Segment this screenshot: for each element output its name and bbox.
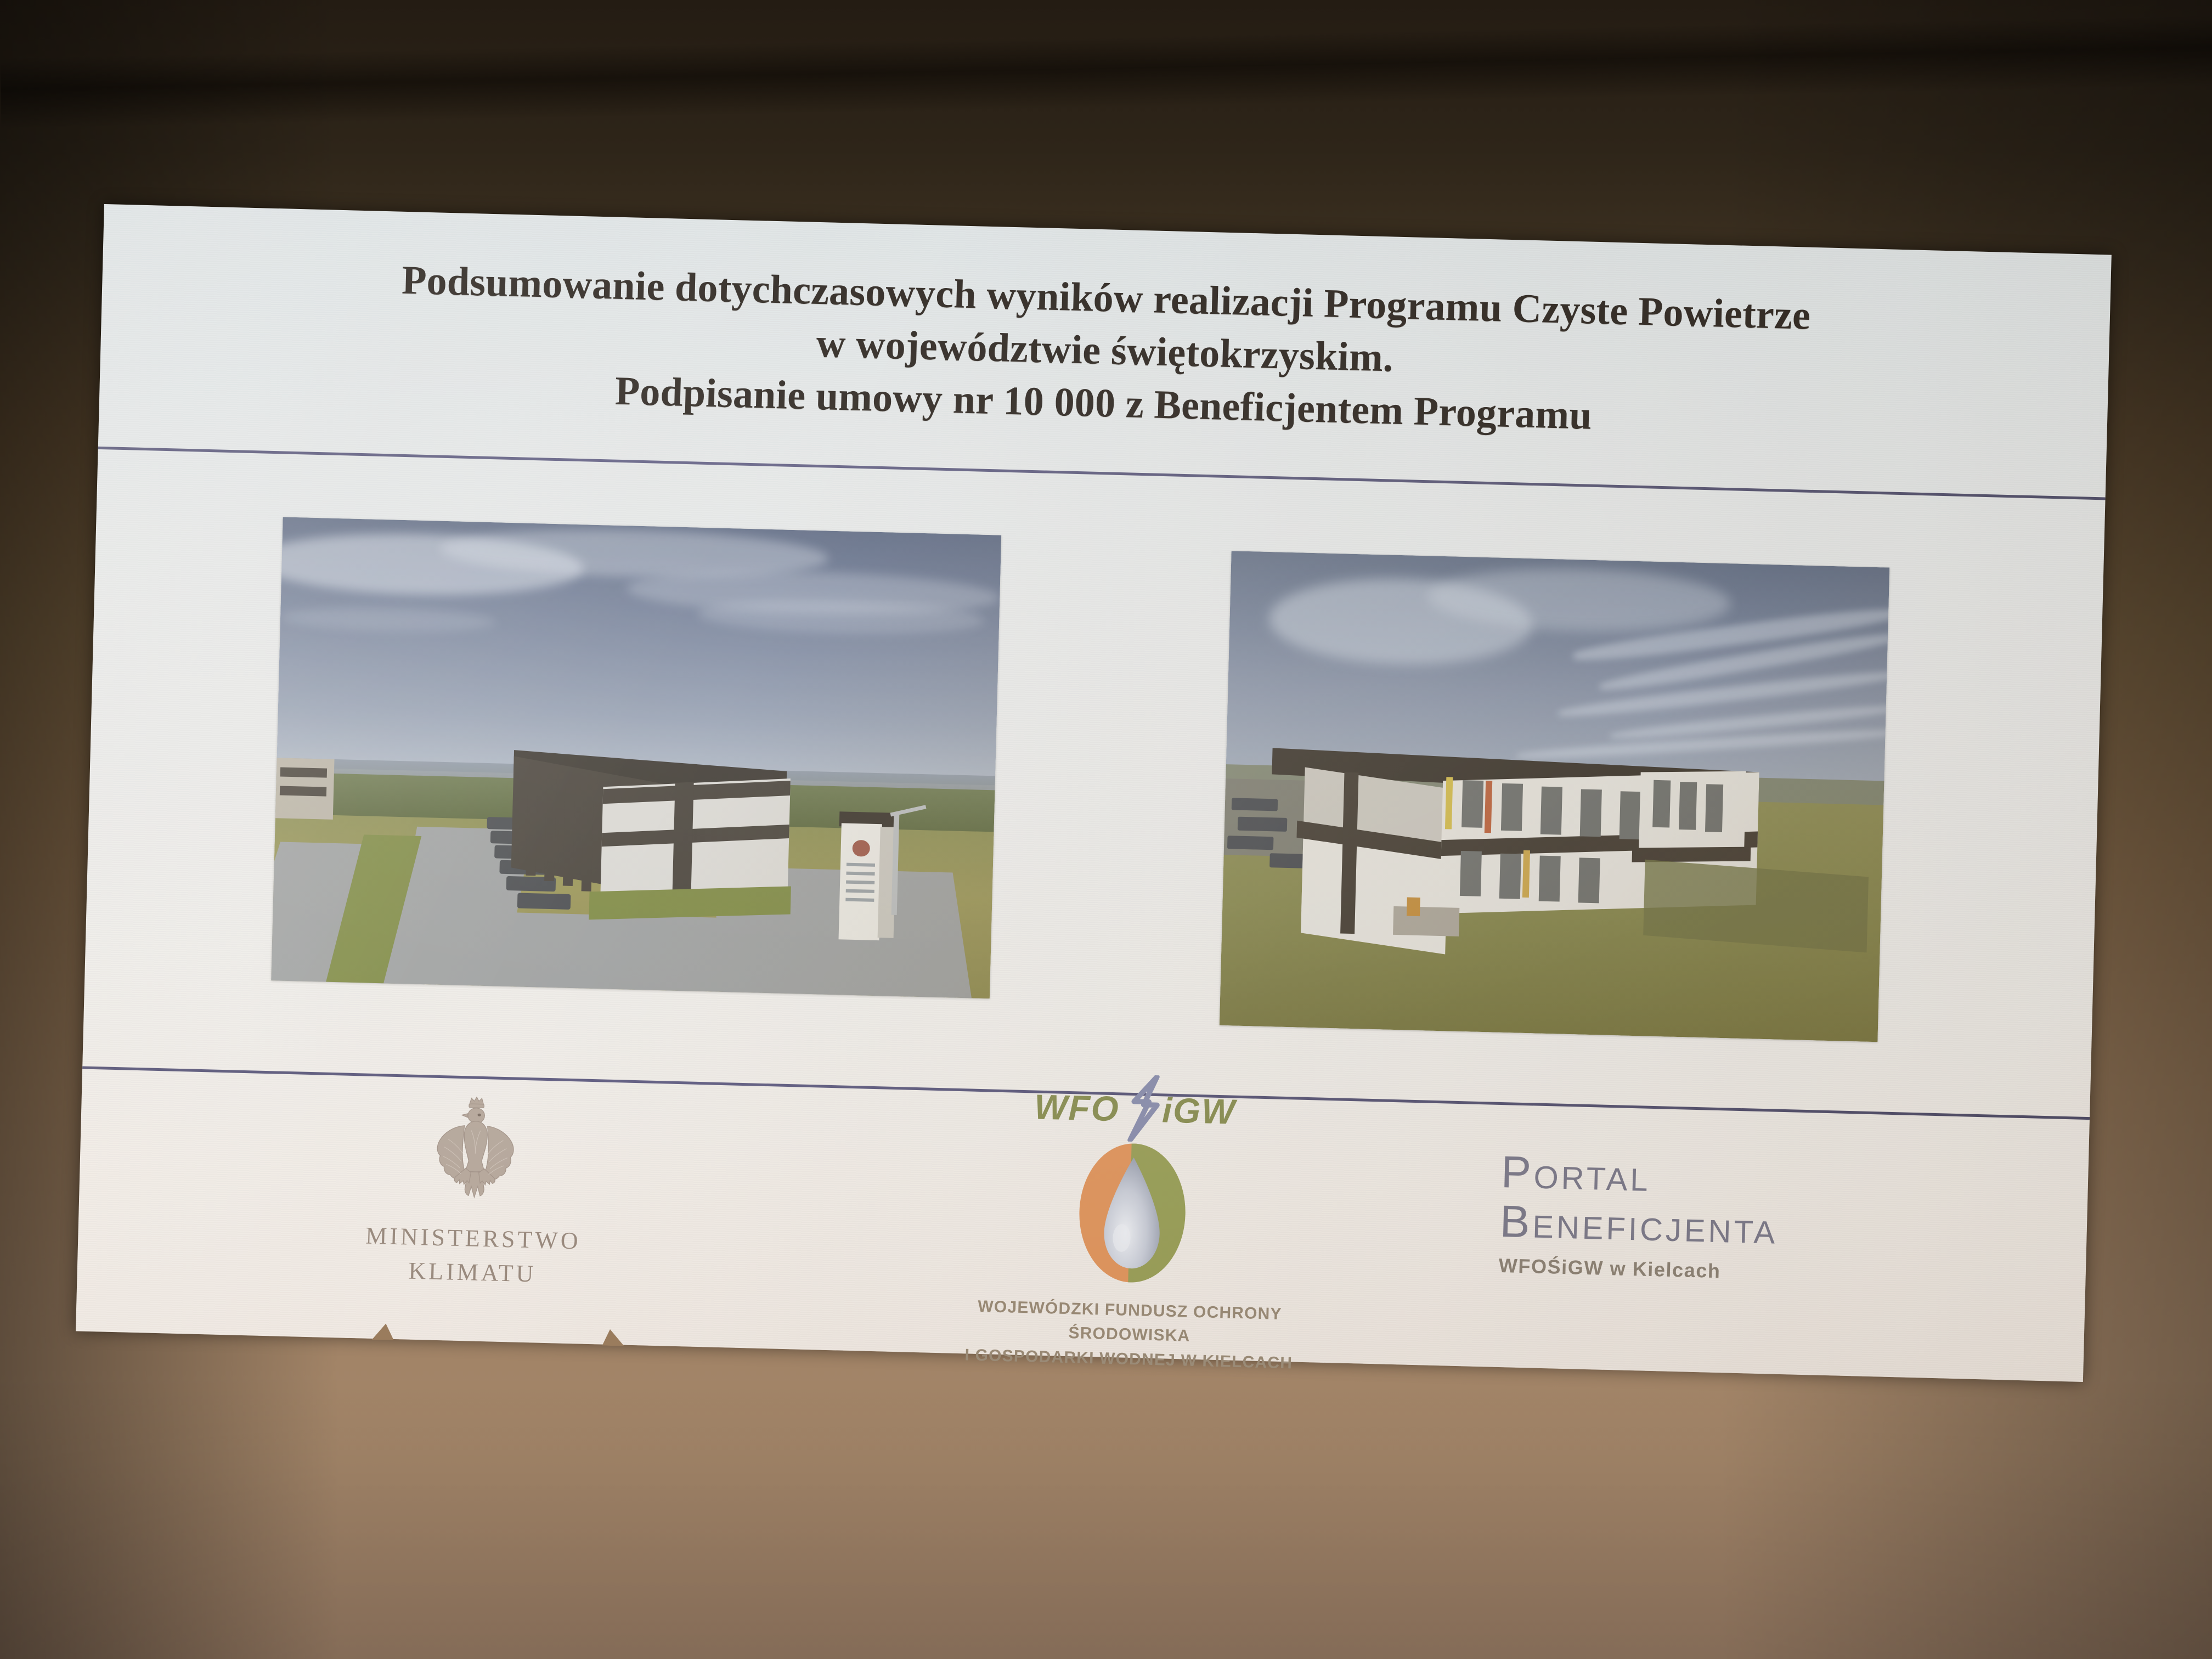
logo-caption-wfosigw: WOJEWÓDZKI FUNDUSZ OCHRONY ŚRODOWISKA I …	[926, 1294, 1333, 1377]
conference-room-wall: Podsumowanie dotychczasowych wyników rea…	[0, 0, 2212, 1659]
polish-eagle-emblem	[320, 1086, 631, 1221]
logo-caption-ministerstwo: MINISTERSTWO KLIMATU	[318, 1218, 627, 1294]
portal-subtitle: WFOŚiGW w Kielcach	[1498, 1254, 1993, 1290]
wfosigw-emblem	[1068, 1138, 1198, 1288]
portal-line-2-rest: ENEFICJENTA	[1532, 1209, 1779, 1251]
portal-line-1-rest: ORTAL	[1533, 1160, 1651, 1198]
photo-row	[82, 452, 2105, 1114]
photo-aerial-office-building	[271, 517, 1001, 998]
wordmark-suffix: iGW	[1162, 1090, 1237, 1131]
wall-vignette-bottom	[0, 1374, 2212, 1659]
projection-screen: Podsumowanie dotychczasowych wyników rea…	[76, 204, 2112, 1382]
photo-projection-tint	[271, 517, 1001, 998]
lightning-bolt-icon	[1122, 1075, 1171, 1143]
presentation-slide: Podsumowanie dotychczasowych wyników rea…	[76, 204, 2112, 1382]
photo-projection-tint	[1220, 551, 1890, 1042]
logo-ministerstwo-klimatu: MINISTERSTWO KLIMATU	[318, 1086, 630, 1294]
slide-title: Podsumowanie dotychczasowych wyników rea…	[179, 248, 2030, 453]
logo-wfosigw: WFOiGW	[926, 1084, 1339, 1377]
portal-line-1-initial: P	[1500, 1147, 1534, 1198]
slide-title-block: Podsumowanie dotychczasowych wyników rea…	[98, 204, 2112, 497]
portal-line-2-initial: B	[1499, 1197, 1533, 1247]
wordmark-prefix: WFO	[1034, 1087, 1120, 1128]
logo-portal-beneficjenta: PORTAL BENEFICJENTA WFOŚiGW w Kielcach	[1498, 1148, 1995, 1290]
photo-office-building-closeup	[1220, 551, 1890, 1042]
